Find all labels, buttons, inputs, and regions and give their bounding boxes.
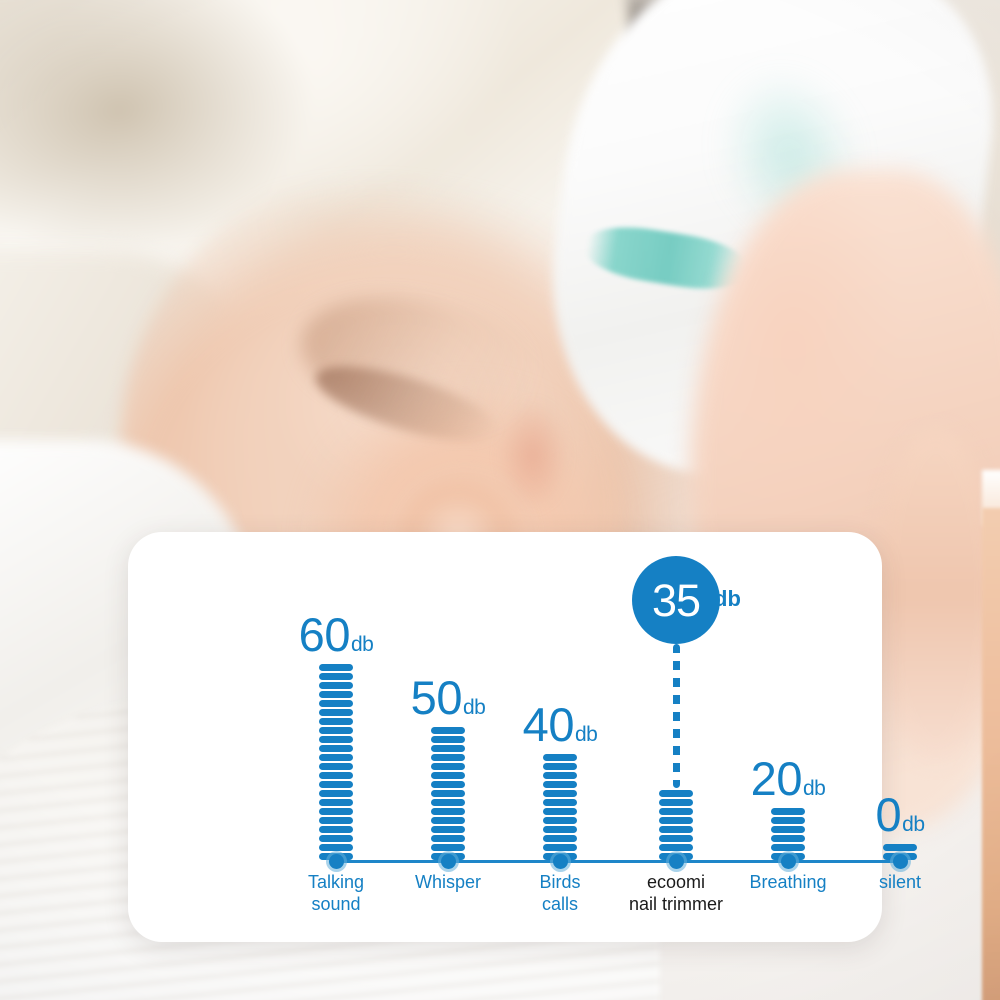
value-number: 50 xyxy=(411,671,462,724)
bar-segment xyxy=(319,736,353,743)
bar-segment xyxy=(319,844,353,851)
bar-segment xyxy=(319,808,353,815)
bar-segment xyxy=(319,691,353,698)
highlight-bubble[interactable]: 35 xyxy=(632,556,720,644)
bar-segment xyxy=(543,790,577,797)
category-label-line2: calls xyxy=(539,894,580,916)
value-unit: db xyxy=(575,723,597,746)
bar-segment xyxy=(431,763,465,770)
category-label-3: ecoominail trimmer xyxy=(629,872,723,916)
value-number: 40 xyxy=(523,698,574,751)
value-number: 0 xyxy=(876,788,902,841)
value-unit: db xyxy=(803,777,825,800)
bar-segment xyxy=(431,826,465,833)
bar-segment xyxy=(319,718,353,725)
value-label-0: 60db xyxy=(299,611,374,658)
axis-dot-2[interactable] xyxy=(553,854,568,869)
decibel-chart-card: 60db50db40db20db0db TalkingsoundWhisperB… xyxy=(128,532,882,942)
highlight-bubble-value: 35 xyxy=(652,578,700,623)
bar-segment xyxy=(431,844,465,851)
bar-segment xyxy=(319,826,353,833)
bar-segment xyxy=(771,835,805,842)
category-label-0: Talkingsound xyxy=(308,872,364,916)
highlight-dashed-connector xyxy=(673,644,680,788)
bar-2 xyxy=(543,754,577,860)
baseline-axis xyxy=(336,860,900,863)
value-label-5: 0db xyxy=(876,791,925,838)
bar-segment xyxy=(431,799,465,806)
bar-segment xyxy=(659,835,693,842)
bar-segment xyxy=(543,754,577,761)
bar-segment xyxy=(319,772,353,779)
bar-1 xyxy=(431,727,465,860)
bar-segment xyxy=(319,817,353,824)
bar-segment xyxy=(431,835,465,842)
bar-segment xyxy=(431,808,465,815)
bar-segment xyxy=(543,763,577,770)
category-label-2: Birdscalls xyxy=(539,872,580,916)
bar-segment xyxy=(319,664,353,671)
bar-segment xyxy=(659,817,693,824)
highlight-bubble-unit: db xyxy=(714,588,741,610)
category-label-4: Breathing xyxy=(749,872,826,894)
bar-segment xyxy=(319,673,353,680)
bar-segment xyxy=(431,727,465,734)
bar-segment xyxy=(543,781,577,788)
category-label-line1: Birds xyxy=(539,872,580,894)
bar-segment xyxy=(883,844,917,851)
bar-segment xyxy=(319,700,353,707)
bar-segment xyxy=(543,826,577,833)
bar-segment xyxy=(431,790,465,797)
category-label-line1: ecoomi xyxy=(629,872,723,894)
chart-plot-area: 60db50db40db20db0db TalkingsoundWhisperB… xyxy=(128,532,882,942)
axis-dot-5[interactable] xyxy=(893,854,908,869)
bar-4 xyxy=(771,808,805,860)
value-label-2: 40db xyxy=(523,701,598,748)
bar-segment xyxy=(543,835,577,842)
bar-segment xyxy=(543,799,577,806)
bar-segment xyxy=(431,736,465,743)
bar-segment xyxy=(659,844,693,851)
bar-segment xyxy=(431,754,465,761)
bar-segment xyxy=(319,682,353,689)
bar-segment xyxy=(659,790,693,797)
axis-dot-1[interactable] xyxy=(441,854,456,869)
bar-segment xyxy=(543,808,577,815)
bar-segment xyxy=(659,826,693,833)
category-label-line2: nail trimmer xyxy=(629,894,723,916)
axis-dot-4[interactable] xyxy=(781,854,796,869)
bar-segment xyxy=(771,817,805,824)
bar-segment xyxy=(319,781,353,788)
category-label-line1: Whisper xyxy=(415,872,481,894)
value-label-1: 50db xyxy=(411,674,486,721)
category-label-5: silent xyxy=(879,872,921,894)
bar-segment xyxy=(431,772,465,779)
category-label-line2: sound xyxy=(308,894,364,916)
category-label-1: Whisper xyxy=(415,872,481,894)
bar-segment xyxy=(543,844,577,851)
category-label-line1: Talking xyxy=(308,872,364,894)
bar-segment xyxy=(319,799,353,806)
category-label-line1: Breathing xyxy=(749,872,826,894)
bar-segment xyxy=(543,817,577,824)
value-unit: db xyxy=(351,633,373,656)
bar-segment xyxy=(659,799,693,806)
bar-3 xyxy=(659,790,693,860)
bar-segment xyxy=(771,844,805,851)
bar-segment xyxy=(319,745,353,752)
value-number: 20 xyxy=(751,752,802,805)
axis-dot-0[interactable] xyxy=(329,854,344,869)
bar-segment xyxy=(431,745,465,752)
bar-segment xyxy=(319,709,353,716)
category-label-line1: silent xyxy=(879,872,921,894)
bar-segment xyxy=(319,790,353,797)
bar-segment xyxy=(659,808,693,815)
bar-segment xyxy=(431,817,465,824)
bar-segment xyxy=(431,781,465,788)
bar-0 xyxy=(319,664,353,860)
bar-segment xyxy=(319,835,353,842)
bar-segment xyxy=(543,772,577,779)
value-number: 60 xyxy=(299,608,350,661)
bar-segment xyxy=(771,826,805,833)
bar-segment xyxy=(319,727,353,734)
bar-segment xyxy=(319,763,353,770)
bar-segment xyxy=(319,754,353,761)
value-unit: db xyxy=(902,813,924,836)
axis-dot-3[interactable] xyxy=(669,854,684,869)
value-label-4: 20db xyxy=(751,755,826,802)
bar-segment xyxy=(771,808,805,815)
value-unit: db xyxy=(463,696,485,719)
